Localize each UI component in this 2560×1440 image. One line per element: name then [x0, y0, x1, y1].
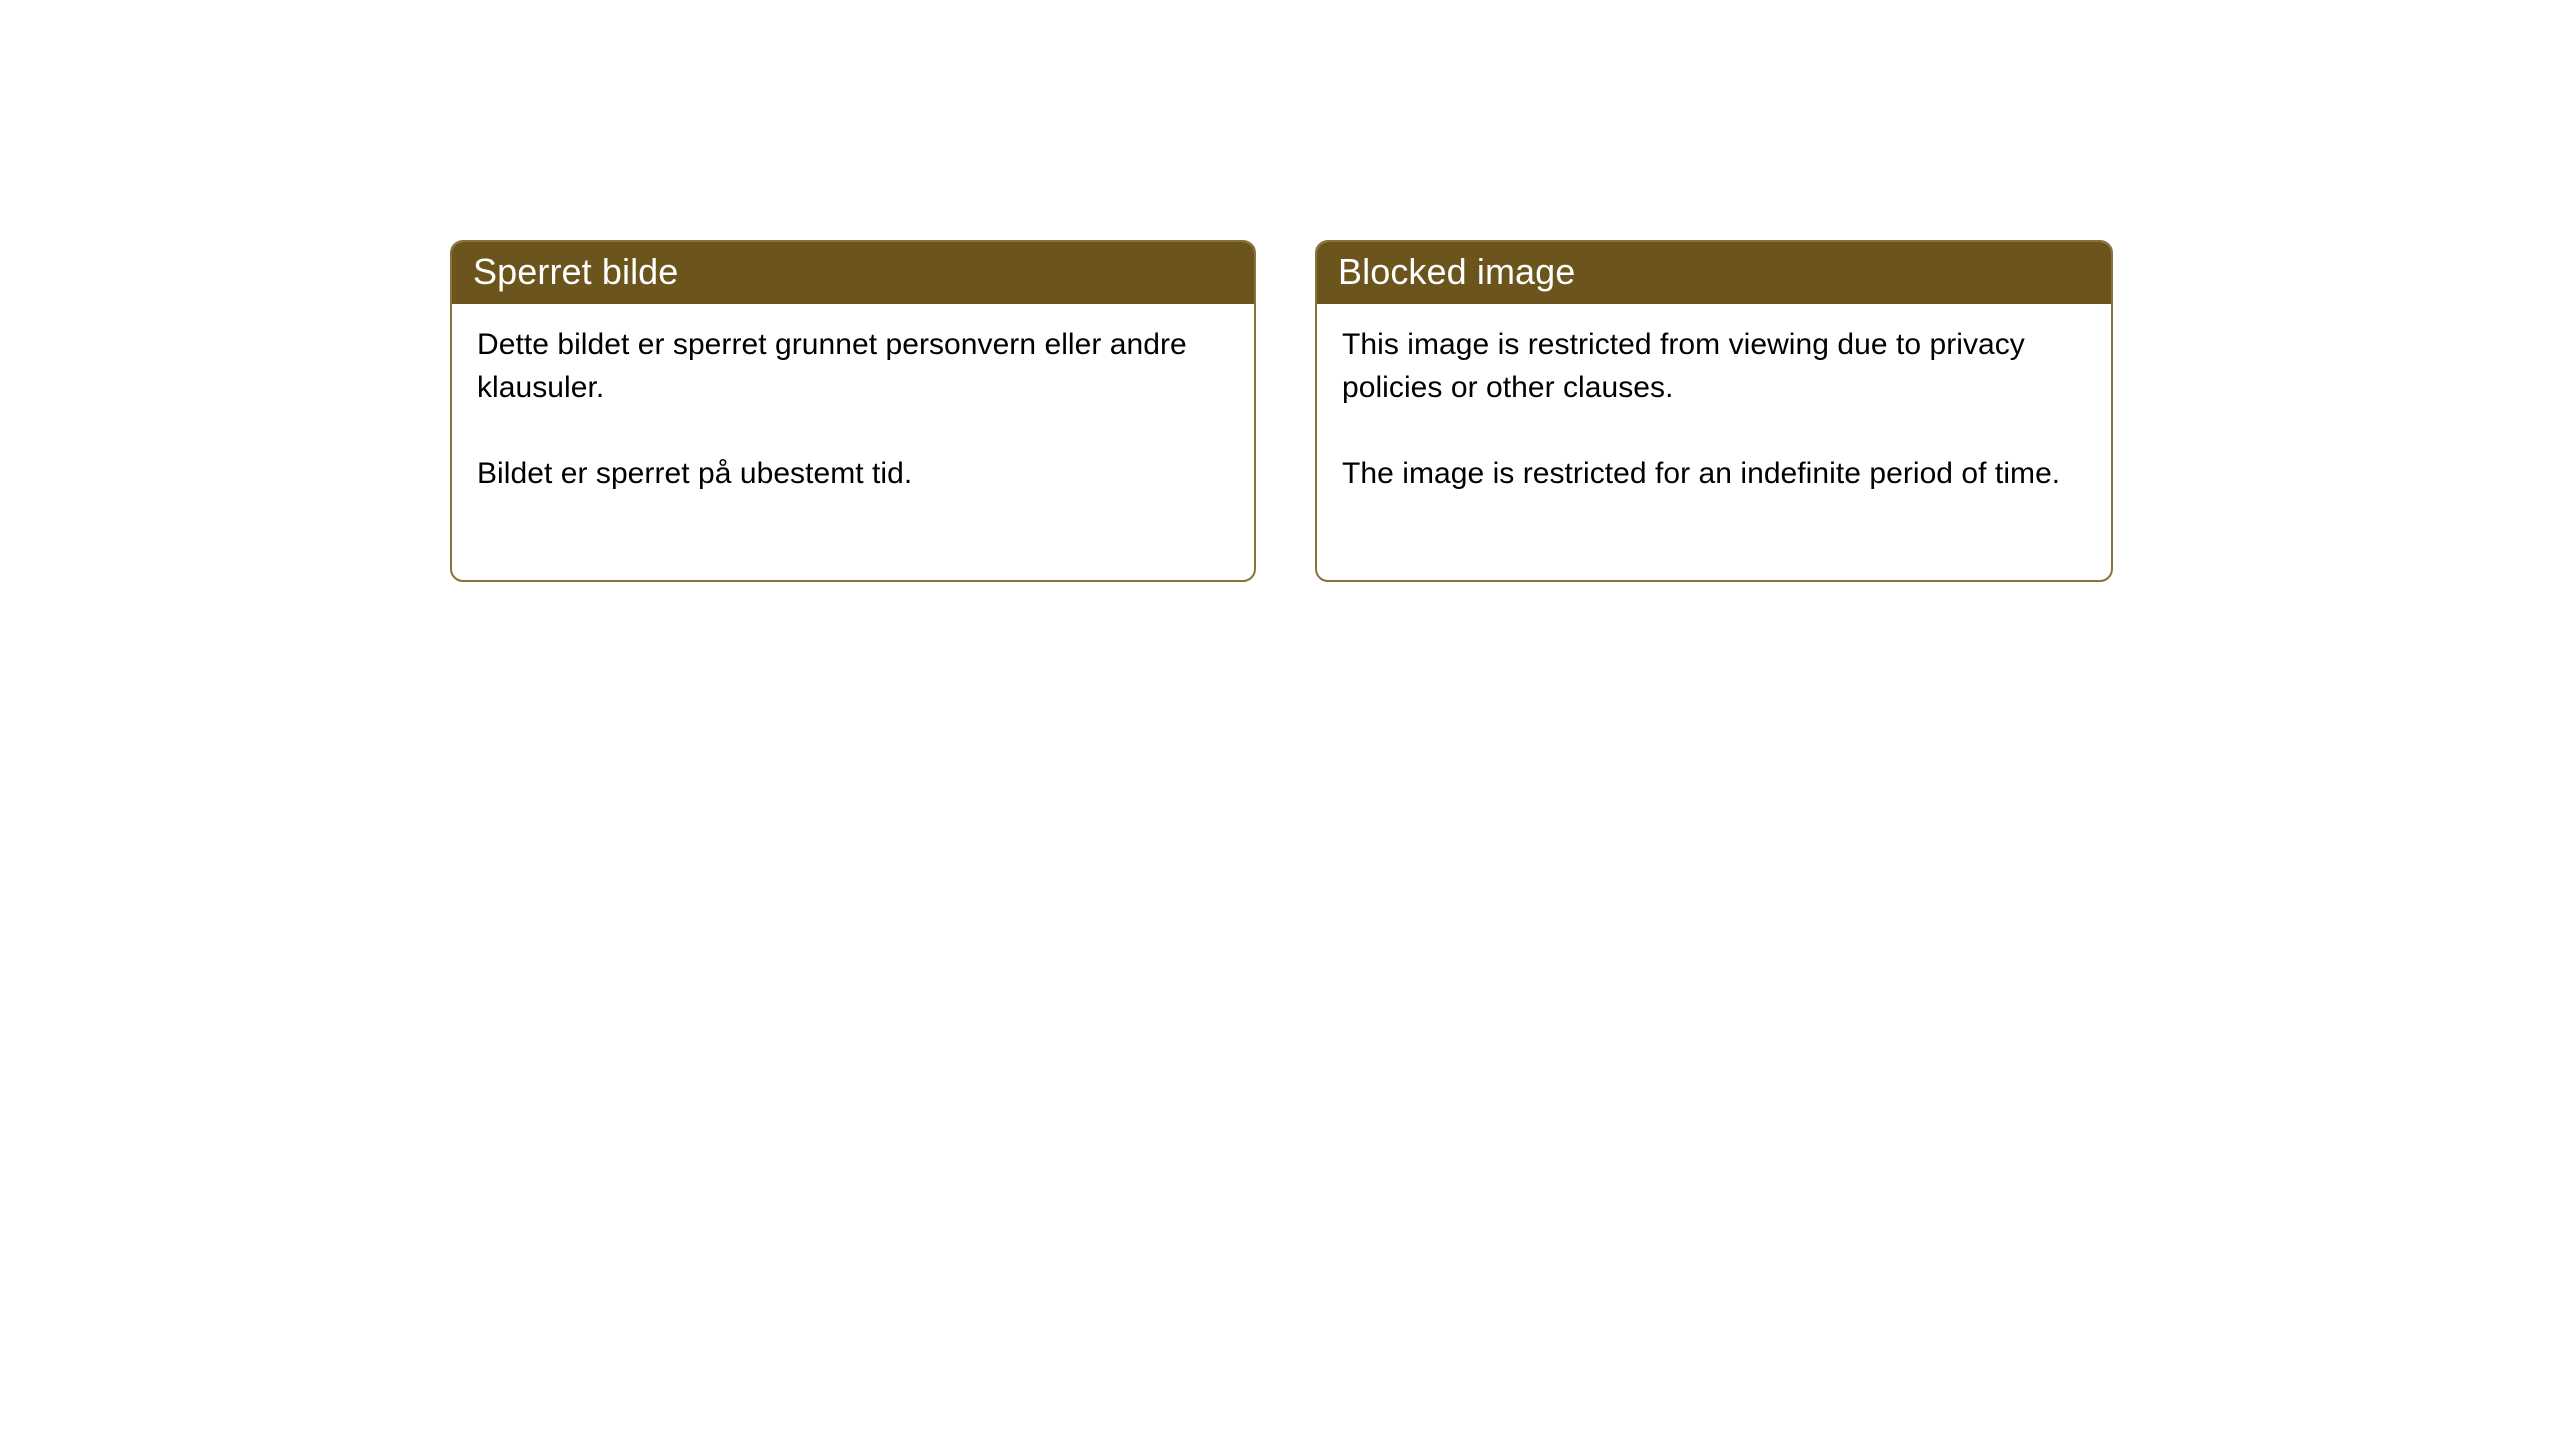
- panel-title-norwegian: Sperret bilde: [473, 254, 678, 290]
- blocked-image-panel-english: Blocked image This image is restricted f…: [1315, 240, 2113, 582]
- panel-header-english: Blocked image: [1315, 240, 2113, 304]
- panel-paragraph-reason-english: This image is restricted from viewing du…: [1342, 323, 2087, 409]
- panel-paragraph-reason-norwegian: Dette bildet er sperret grunnet personve…: [477, 323, 1230, 409]
- panel-body-norwegian: Dette bildet er sperret grunnet personve…: [452, 304, 1254, 495]
- panel-body-english: This image is restricted from viewing du…: [1317, 304, 2111, 495]
- panel-paragraph-duration-norwegian: Bildet er sperret på ubestemt tid.: [477, 452, 1230, 495]
- blocked-image-panel-norwegian: Sperret bilde Dette bildet er sperret gr…: [450, 240, 1256, 582]
- panel-paragraph-duration-english: The image is restricted for an indefinit…: [1342, 452, 2087, 495]
- panel-title-english: Blocked image: [1338, 254, 1575, 290]
- page-canvas: Sperret bilde Dette bildet er sperret gr…: [0, 0, 2560, 1440]
- panel-header-norwegian: Sperret bilde: [450, 240, 1256, 304]
